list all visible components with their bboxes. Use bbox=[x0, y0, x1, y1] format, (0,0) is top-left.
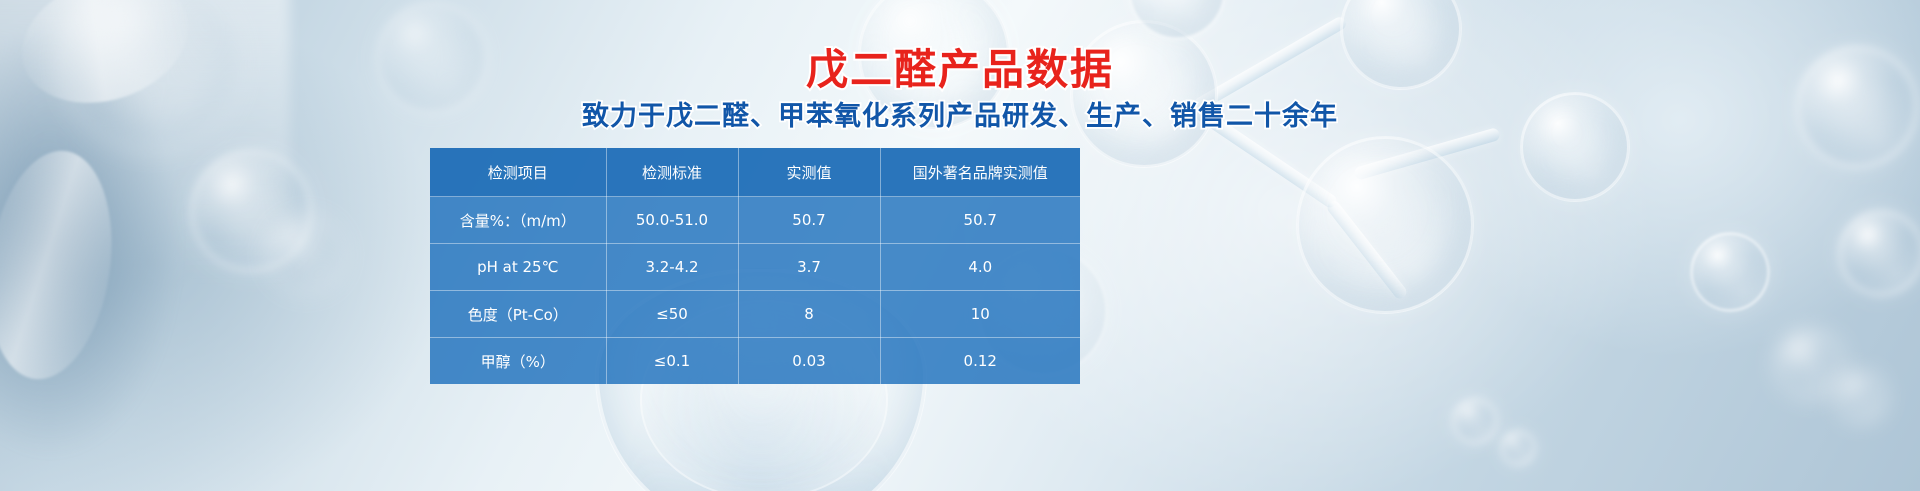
column-header-standard: 检测标准 bbox=[606, 148, 738, 197]
cell-standard: ≤0.1 bbox=[606, 338, 738, 385]
cell-foreign: 10 bbox=[880, 291, 1080, 338]
column-header-item: 检测项目 bbox=[430, 148, 606, 197]
molecule-node bbox=[268, 216, 344, 292]
spec-table-container: 检测项目 检测标准 实测值 国外著名品牌实测值 含量%：（m/m） 50.0-5… bbox=[430, 148, 1080, 384]
cell-foreign: 4.0 bbox=[880, 244, 1080, 291]
molecule-node bbox=[1690, 232, 1770, 312]
cell-measured: 3.7 bbox=[738, 244, 880, 291]
cell-standard: 3.2-4.2 bbox=[606, 244, 738, 291]
product-data-banner: 戊二醛产品数据 致力于戊二醛、甲苯氧化系列产品研发、生产、销售二十余年 检测项目… bbox=[0, 0, 1920, 491]
glass-tube-highlight bbox=[0, 143, 125, 387]
table-header-row: 检测项目 检测标准 实测值 国外著名品牌实测值 bbox=[430, 148, 1080, 197]
molecule-node bbox=[1836, 372, 1886, 422]
table-row: 含量%：（m/m） 50.0-51.0 50.7 50.7 bbox=[430, 197, 1080, 244]
product-spec-table: 检测项目 检测标准 实测值 国外著名品牌实测值 含量%：（m/m） 50.0-5… bbox=[430, 148, 1080, 384]
molecule-bond bbox=[1325, 198, 1409, 301]
cell-measured: 50.7 bbox=[738, 197, 880, 244]
molecule-node bbox=[190, 150, 312, 272]
cell-standard: 50.0-51.0 bbox=[606, 197, 738, 244]
cell-item: 含量%：（m/m） bbox=[430, 197, 606, 244]
table-row: pH at 25℃ 3.2-4.2 3.7 4.0 bbox=[430, 244, 1080, 291]
table-row: 甲醇（%） ≤0.1 0.03 0.12 bbox=[430, 338, 1080, 385]
column-header-measured: 实测值 bbox=[738, 148, 880, 197]
molecule-bond bbox=[1353, 127, 1501, 181]
table-row: 色度（Pt-Co） ≤50 8 10 bbox=[430, 291, 1080, 338]
page-subtitle: 致力于戊二醛、甲苯氧化系列产品研发、生产、销售二十余年 bbox=[0, 102, 1920, 132]
page-title: 戊二醛产品数据 bbox=[0, 48, 1920, 93]
molecule-node bbox=[1500, 430, 1536, 466]
cell-item: 色度（Pt-Co） bbox=[430, 291, 606, 338]
cell-foreign: 0.12 bbox=[880, 338, 1080, 385]
cell-item: 甲醇（%） bbox=[430, 338, 606, 385]
molecule-node bbox=[1296, 136, 1474, 314]
cell-measured: 8 bbox=[738, 291, 880, 338]
molecule-node bbox=[1128, 0, 1226, 40]
cell-measured: 0.03 bbox=[738, 338, 880, 385]
molecule-node bbox=[1776, 330, 1844, 398]
spec-table-head: 检测项目 检测标准 实测值 国外著名品牌实测值 bbox=[430, 148, 1080, 197]
molecule-node bbox=[1452, 398, 1498, 444]
cell-foreign: 50.7 bbox=[880, 197, 1080, 244]
banner-headings: 戊二醛产品数据 致力于戊二醛、甲苯氧化系列产品研发、生产、销售二十余年 bbox=[0, 48, 1920, 131]
column-header-foreign: 国外著名品牌实测值 bbox=[880, 148, 1080, 197]
molecule-node bbox=[1838, 210, 1920, 296]
cell-item: pH at 25℃ bbox=[430, 244, 606, 291]
spec-table-body: 含量%：（m/m） 50.0-51.0 50.7 50.7 pH at 25℃ … bbox=[430, 197, 1080, 385]
cell-standard: ≤50 bbox=[606, 291, 738, 338]
